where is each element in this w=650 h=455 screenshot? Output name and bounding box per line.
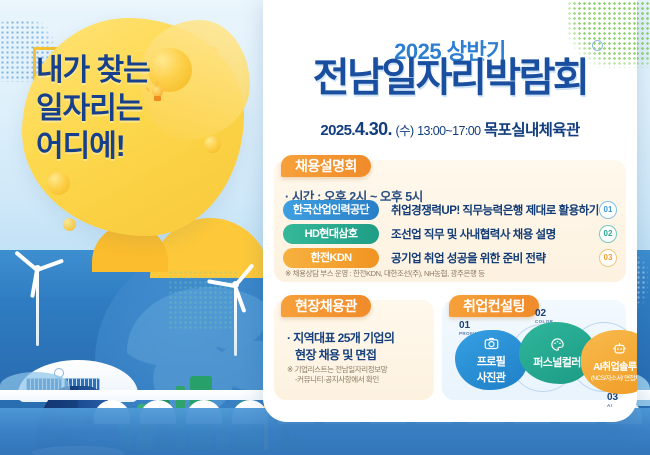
row-topic: 공기업 취업 성공을 위한 준비 전략 — [379, 250, 599, 266]
hero-headline: 내가 찾는 일자리는 어디에! — [36, 56, 236, 170]
row-number: 01 — [599, 201, 617, 219]
onsite-header: 현장채용관 — [281, 295, 371, 317]
consult-label-2: 퍼스널컬러 — [533, 354, 581, 370]
palette-icon — [550, 337, 565, 352]
table-row[interactable]: 한전KDN 공기업 취업 성공을 위한 준비 전략 03 — [283, 248, 617, 268]
wind-turbine-icon — [24, 268, 50, 346]
poster-root: 내가 찾는 일자리는 어디에! — [0, 0, 650, 455]
lightbulb-icon — [150, 86, 165, 104]
camera-icon — [484, 336, 499, 351]
onsite-body-line1: · 지역대표 25개 기업의 — [287, 330, 435, 347]
row-topic: 취업경쟁력UP! 직무능력은행 제대로 활용하기 — [379, 202, 599, 218]
date-day: 30. — [369, 119, 392, 139]
consult-number-3: 03 AI — [607, 392, 618, 408]
company-badge: HD현대삼호 — [283, 224, 379, 244]
company-badge: 한국산업인력공단 — [283, 200, 379, 220]
wind-turbine-icon — [222, 284, 248, 356]
consult-blob-profile[interactable]: 프로필 사진관 — [455, 330, 527, 390]
consult-label-3: AI취업솔루션 — [593, 358, 637, 373]
table-row[interactable]: HD현대삼호 조선업 직무 및 사내협력사 채용 설명 02 — [283, 224, 617, 244]
consult-label-1: 프로필 — [477, 353, 506, 369]
briefing-note: ※ 채용상담 부스 운영 : 한전KDN, 대한조선(주), NH농협, 광주은… — [285, 268, 485, 279]
hero-headline-line3: 어디에! — [36, 132, 236, 162]
date-year: 2025. — [320, 122, 355, 139]
decor-ball-2 — [47, 172, 70, 195]
briefing-header: 채용설명회 — [281, 155, 371, 177]
hero-headline-line2: 일자리는 — [36, 94, 236, 124]
briefing-row-list: 한국산업인력공단 취업경쟁력UP! 직무능력은행 제대로 활용하기 01 HD현… — [283, 200, 617, 272]
content-card: 2025 상반기 전남일자리박람회 2025.4.30. (수) 13:00~1… — [263, 0, 637, 422]
onsite-body-line2: 현장 채용 및 면접 — [287, 347, 435, 364]
onsite-body: · 지역대표 25개 기업의 현장 채용 및 면접 — [287, 330, 435, 365]
date-weekday: (수) — [396, 124, 414, 138]
ai-icon — [612, 341, 627, 356]
onsite-note-line2: -커뮤니티·공지사항에서 확인 — [295, 374, 379, 385]
poster-date-line: 2025.4.30. (수) 13:00~17:00 목포실내체육관 — [263, 118, 637, 140]
date-month: 4. — [355, 119, 369, 139]
row-topic: 조선업 직무 및 사내협력사 채용 설명 — [379, 226, 599, 242]
event-time: 13:00~17:00 — [417, 124, 480, 138]
consulting-header: 취업컨설팅 — [449, 295, 539, 317]
hero-headline-line1: 내가 찾는 — [36, 56, 236, 86]
table-row[interactable]: 한국산업인력공단 취업경쟁력UP! 직무능력은행 제대로 활용하기 01 — [283, 200, 617, 220]
row-number: 02 — [599, 225, 617, 243]
consult-sublabel-3: (NCS/자소서/ 면접체험) — [591, 375, 637, 383]
poster-title: 전남일자리박람회 — [263, 58, 637, 98]
event-venue: 목포실내체육관 — [484, 122, 580, 139]
row-number: 03 — [599, 249, 617, 267]
consult-label-1b: 사진관 — [477, 369, 506, 385]
company-badge: 한전KDN — [283, 248, 379, 268]
